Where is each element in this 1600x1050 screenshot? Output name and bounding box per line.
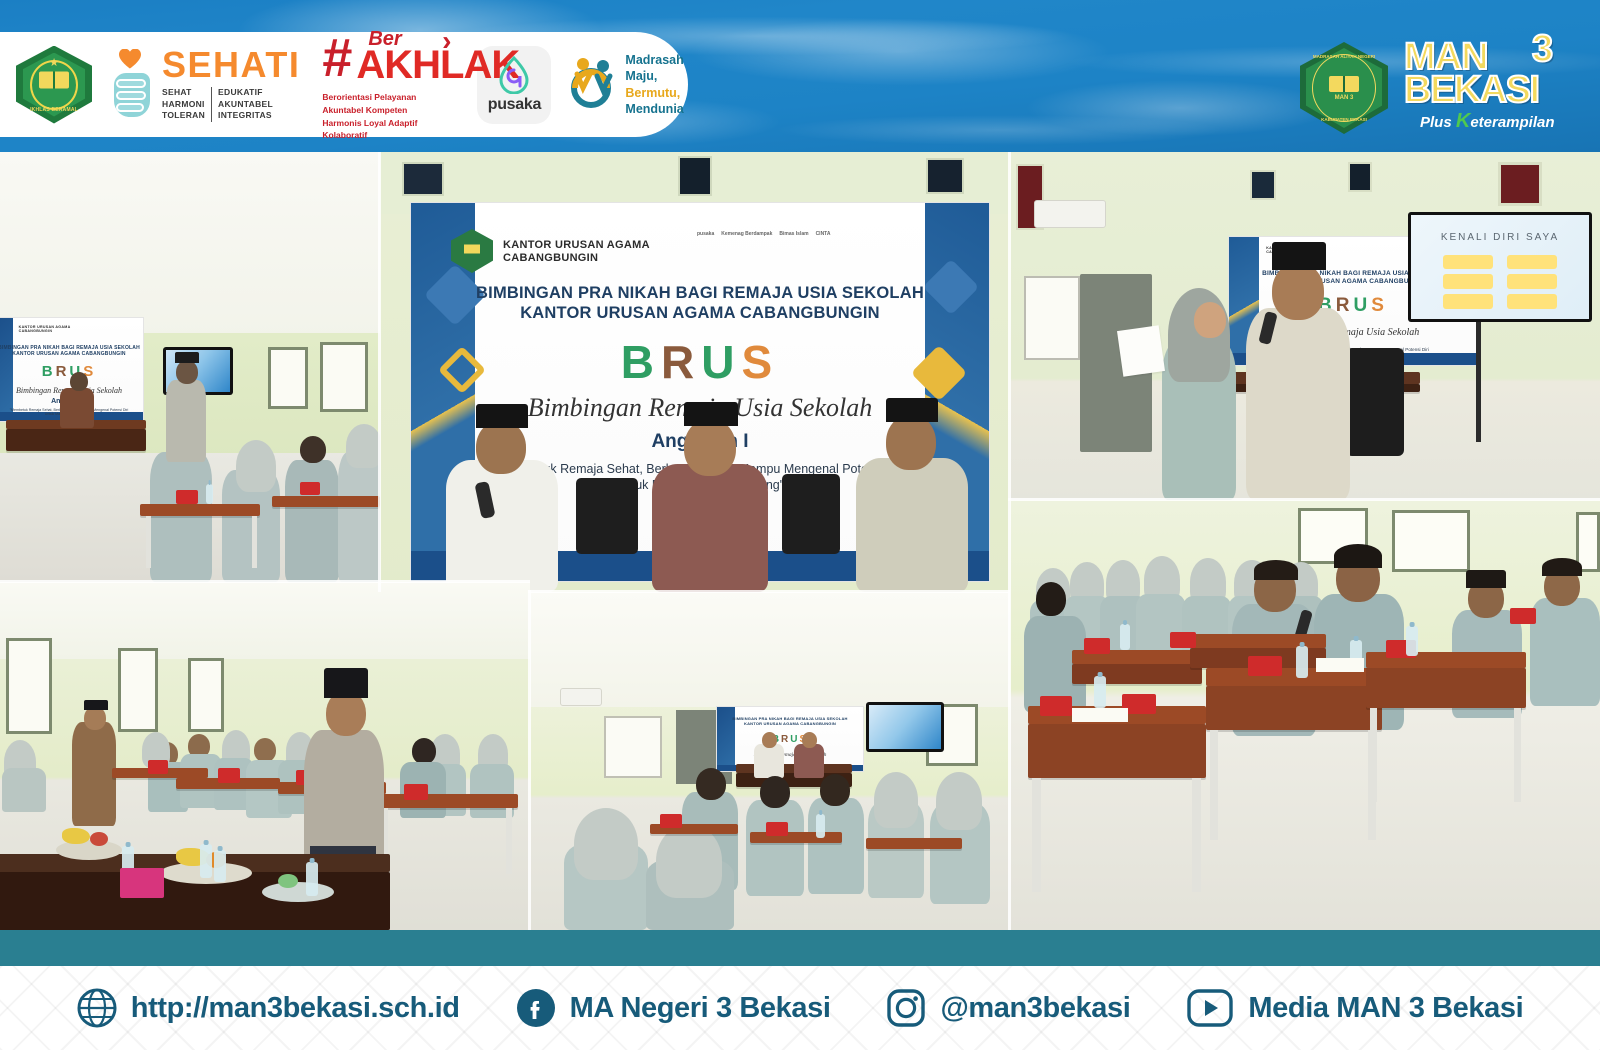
- man3-k: K: [1456, 110, 1470, 132]
- sehati-title: SEHATI: [162, 47, 300, 83]
- brus-letter-u: U: [701, 336, 741, 388]
- header-logo-pill: ★ IKHLAS BERAMAL SEHATI SEHAT HARMONI: [0, 32, 688, 137]
- event-documentation-poster: ★ IKHLAS BERAMAL SEHATI SEHAT HARMONI: [0, 0, 1600, 1050]
- photo-pemateri-bottom-left: [0, 582, 530, 930]
- collage-seam-vertical-3: [528, 590, 531, 930]
- banner-kua-line1: KANTOR URUSAN AGAMA: [503, 239, 650, 251]
- man3-wordmark: MAN 3 BEKASI Plus Keterampilan: [1404, 38, 1600, 138]
- banner-partner-kemenag: Kemenag Berdampak: [721, 231, 772, 237]
- footer-item-youtube[interactable]: Media MAN 3 Bekasi: [1186, 988, 1523, 1028]
- man3-word-bekasi: BEKASI: [1404, 71, 1539, 109]
- photo-narasumber-panel-center: KANTOR URUSAN AGAMA CABANGBUNGIN pusaka …: [380, 152, 1010, 592]
- crest-top-text: MADRASAH ALIYAH NEGERI: [1313, 54, 1375, 59]
- youtube-icon: [1186, 988, 1234, 1028]
- hash-icon: #: [322, 31, 352, 85]
- banner-title-line2: KANTOR URUSAN AGAMA CABANGBUNGIN: [411, 303, 989, 323]
- berakhlak-tagline-1: Berorientasi Pelayanan Akuntabel Kompete…: [322, 91, 457, 117]
- sehati-sub-harmoni: HARMONI: [162, 99, 205, 110]
- man3-word-three: 3: [1532, 30, 1553, 68]
- pusaka-droplet-icon: [497, 56, 531, 94]
- kemenag-crest-ribbon: IKHLAS BERAMAL: [30, 107, 78, 113]
- man3-keterampilan: eterampilan: [1470, 114, 1554, 131]
- banner-kua-line2: CABANGBUNGIN: [503, 252, 598, 264]
- footer-facebook-label: MA Negeri 3 Bekasi: [570, 992, 831, 1025]
- berakhlak-tagline-2: Harmonis Loyal Adaptif Kolaboratif: [322, 117, 457, 143]
- madrasah-line-2: Bermutu,: [625, 85, 688, 102]
- collage-seam-horizontal-2: [528, 590, 1010, 593]
- footer-teal-band: [0, 930, 1600, 966]
- man3-word-plus-keterampilan: Plus Keterampilan: [1420, 110, 1555, 133]
- sehati-sub-integritas: INTEGRITAS: [218, 110, 273, 121]
- instagram-icon: [886, 988, 926, 1028]
- collage-seam-vertical-4: [1008, 498, 1011, 930]
- footer-contact-bar: http://man3bekasi.sch.id MA Negeri 3 Bek…: [0, 966, 1600, 1050]
- berakhlak-word: AKHLAK: [356, 45, 519, 85]
- footer-youtube-label: Media MAN 3 Bekasi: [1248, 992, 1523, 1025]
- photo-peserta-bottom-right: [1010, 500, 1600, 930]
- facebook-icon: [516, 988, 556, 1028]
- brus-letter-s: S: [742, 336, 780, 388]
- sehati-logo: SEHATI SEHAT HARMONI TOLERAN EDUKATIF AK…: [110, 47, 300, 121]
- slide-title: KENALI DIRI SAYA: [1411, 232, 1589, 243]
- madrasah-maju-logo: Madrasah Maju, Bermutu, Mendunia: [567, 52, 688, 118]
- heart-hand-icon: [110, 49, 156, 121]
- banner-partner-bimas: Bimas Islam: [779, 231, 808, 237]
- madrasah-line-3: Mendunia: [625, 101, 688, 118]
- photo-classroom-wide-left: KANTOR URUSAN AGAMACABANGBUNGIN BIMBINGA…: [0, 152, 380, 582]
- footer-instagram-label: @man3bekasi: [940, 992, 1130, 1025]
- footer-item-instagram[interactable]: @man3bekasi: [886, 988, 1130, 1028]
- sehati-sub-akuntabel: AKUNTABEL: [218, 99, 273, 110]
- pusaka-label: pusaka: [488, 96, 541, 114]
- sehati-sub-sehat: SEHAT: [162, 87, 205, 98]
- man3-school-crest-icon: MADRASAH ALIYAH NEGERI MAN 3 KABUPATEN B…: [1300, 42, 1388, 134]
- collage-seam-vertical-1: [378, 152, 381, 592]
- photo-pemateri-top-right: KANTOR URUSAN AGAMACABANGBUNGIN BIMBINGA…: [1010, 152, 1600, 500]
- people-circle-icon: [567, 54, 619, 116]
- footer-item-website[interactable]: http://man3bekasi.sch.id: [77, 988, 460, 1028]
- footer-website-label: http://man3bekasi.sch.id: [131, 992, 460, 1025]
- collage-seam-horizontal-3: [1008, 498, 1600, 501]
- poster-header: ★ IKHLAS BERAMAL SEHATI SEHAT HARMONI: [0, 0, 1600, 152]
- man3-plus: Plus: [1420, 114, 1452, 131]
- berakhlak-logo: # Ber AKHLAK › Berorientasi Pelayanan Ak…: [322, 27, 457, 142]
- banner-partner-cinta: CINTA: [816, 231, 831, 237]
- footer-item-facebook[interactable]: MA Negeri 3 Bekasi: [516, 988, 831, 1028]
- collage-seam-vertical-2: [1008, 152, 1011, 500]
- poster-footer: http://man3bekasi.sch.id MA Negeri 3 Bek…: [0, 930, 1600, 1050]
- sehati-sub-toleran: TOLERAN: [162, 110, 205, 121]
- collage-seam-horizontal-1: [0, 580, 530, 583]
- brus-letter-r: R: [661, 336, 701, 388]
- crest-bottom-text: KABUPATEN BEKASI: [1321, 117, 1367, 122]
- crest-mid-text: MAN 3: [1335, 95, 1354, 101]
- sehati-sub-edukatif: EDUKATIF: [218, 87, 273, 98]
- brus-letter-b: B: [621, 336, 661, 388]
- banner-title-line1: BIMBINGAN PRA NIKAH BAGI REMAJA USIA SEK…: [411, 283, 989, 303]
- photo-peserta-bottom-center: BIMBINGAN PRA NIKAH BAGI REMAJA USIA SEK…: [530, 592, 1010, 930]
- chevron-right-icon: ›: [442, 27, 451, 55]
- globe-icon: [77, 988, 117, 1028]
- banner-partner-pusaka: pusaka: [697, 231, 714, 237]
- photo-collage: KANTOR URUSAN AGAMACABANGBUNGIN BIMBINGA…: [0, 152, 1600, 930]
- kemenag-crest-icon: ★ IKHLAS BERAMAL: [16, 46, 92, 124]
- madrasah-line-1: Madrasah Maju,: [625, 52, 688, 85]
